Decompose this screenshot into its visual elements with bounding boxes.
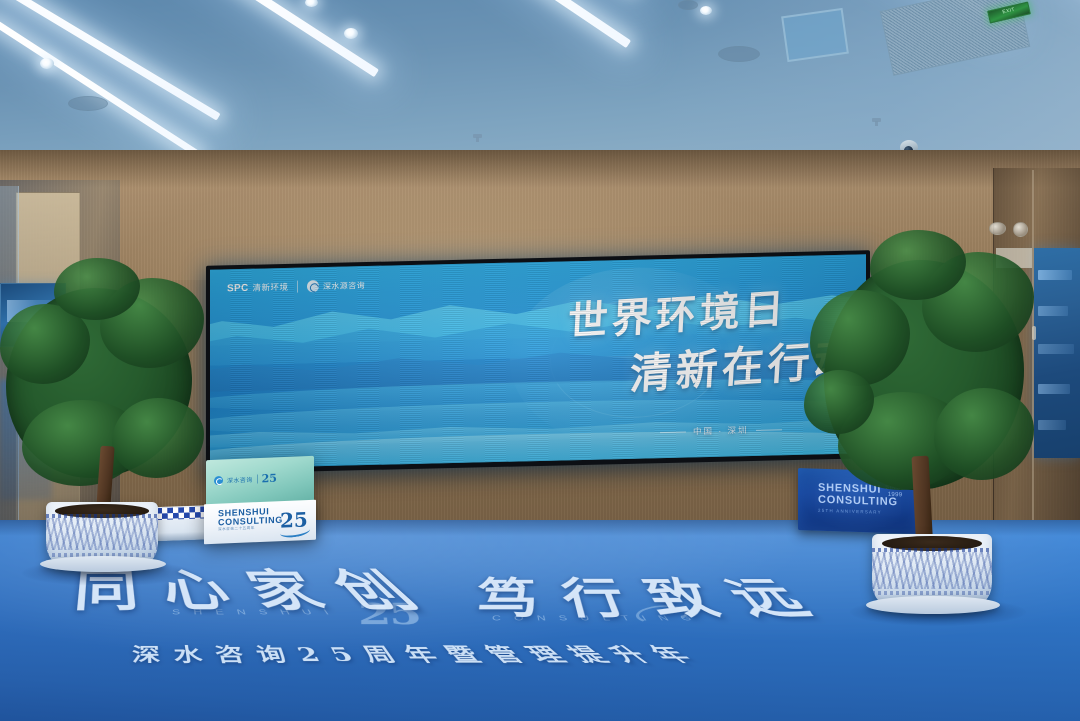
podium-top-logo: 深水咨询 25 — [214, 472, 277, 488]
floor-bottom-line: 深水咨询25周年暨管理提升年 — [132, 640, 717, 667]
porcelain-planter — [46, 502, 158, 564]
recessed-downlight — [40, 58, 54, 69]
smoke-detector — [678, 0, 698, 10]
display-row — [1038, 306, 1068, 316]
leaf-cluster — [112, 398, 204, 478]
display-row — [1038, 384, 1070, 394]
ceiling-access-panel — [781, 8, 849, 62]
right-potted-plant — [810, 230, 1040, 630]
display-row — [1038, 344, 1074, 354]
recessed-downlight — [305, 0, 318, 7]
right-info-display[interactable] — [1034, 248, 1080, 458]
display-row — [1038, 270, 1072, 280]
leaf-cluster — [934, 388, 1034, 480]
podium-years-label: 25 — [262, 472, 277, 486]
ceiling-light-strip — [0, 0, 221, 121]
planter-saucer — [866, 596, 1000, 614]
planter-blue-pattern — [46, 518, 158, 550]
smoke-detector — [718, 46, 760, 62]
planter-base-band — [872, 591, 992, 595]
shenshui-circle-icon — [214, 476, 223, 485]
logo-divider — [257, 474, 258, 483]
left-potted-plant — [0, 250, 210, 590]
podium-en-block: SHENSHUI CONSULTING 深水咨询二十五周年 — [218, 507, 283, 532]
porcelain-planter — [872, 534, 992, 604]
led-video-wall[interactable]: SPC 清新环境 深水源咨询 世界环境日 清新在行动 中国 · 深圳 — [206, 250, 870, 474]
lobby-scene: EXIT — [0, 0, 1080, 721]
display-row — [1038, 420, 1066, 430]
led-screen-content: SPC 清新环境 深水源咨询 世界环境日 清新在行动 中国 · 深圳 — [210, 254, 866, 468]
planter-blue-pattern — [872, 552, 992, 588]
ceiling-light-strip — [131, 0, 379, 77]
planter-saucer — [40, 556, 166, 572]
left-podium[interactable]: 深水咨询 25 SHENSHUI CONSULTING 深水咨询二十五周年 25 — [204, 458, 316, 540]
podium-logo-label: 深水咨询 — [227, 475, 253, 485]
sprinkler-head — [872, 118, 881, 122]
sprinkler-head — [473, 134, 482, 138]
screen-vignette — [210, 254, 866, 468]
recessed-downlight — [700, 6, 712, 15]
ceiling-light-strip — [419, 0, 631, 48]
smoke-detector — [68, 96, 108, 111]
recessed-downlight — [344, 28, 358, 39]
